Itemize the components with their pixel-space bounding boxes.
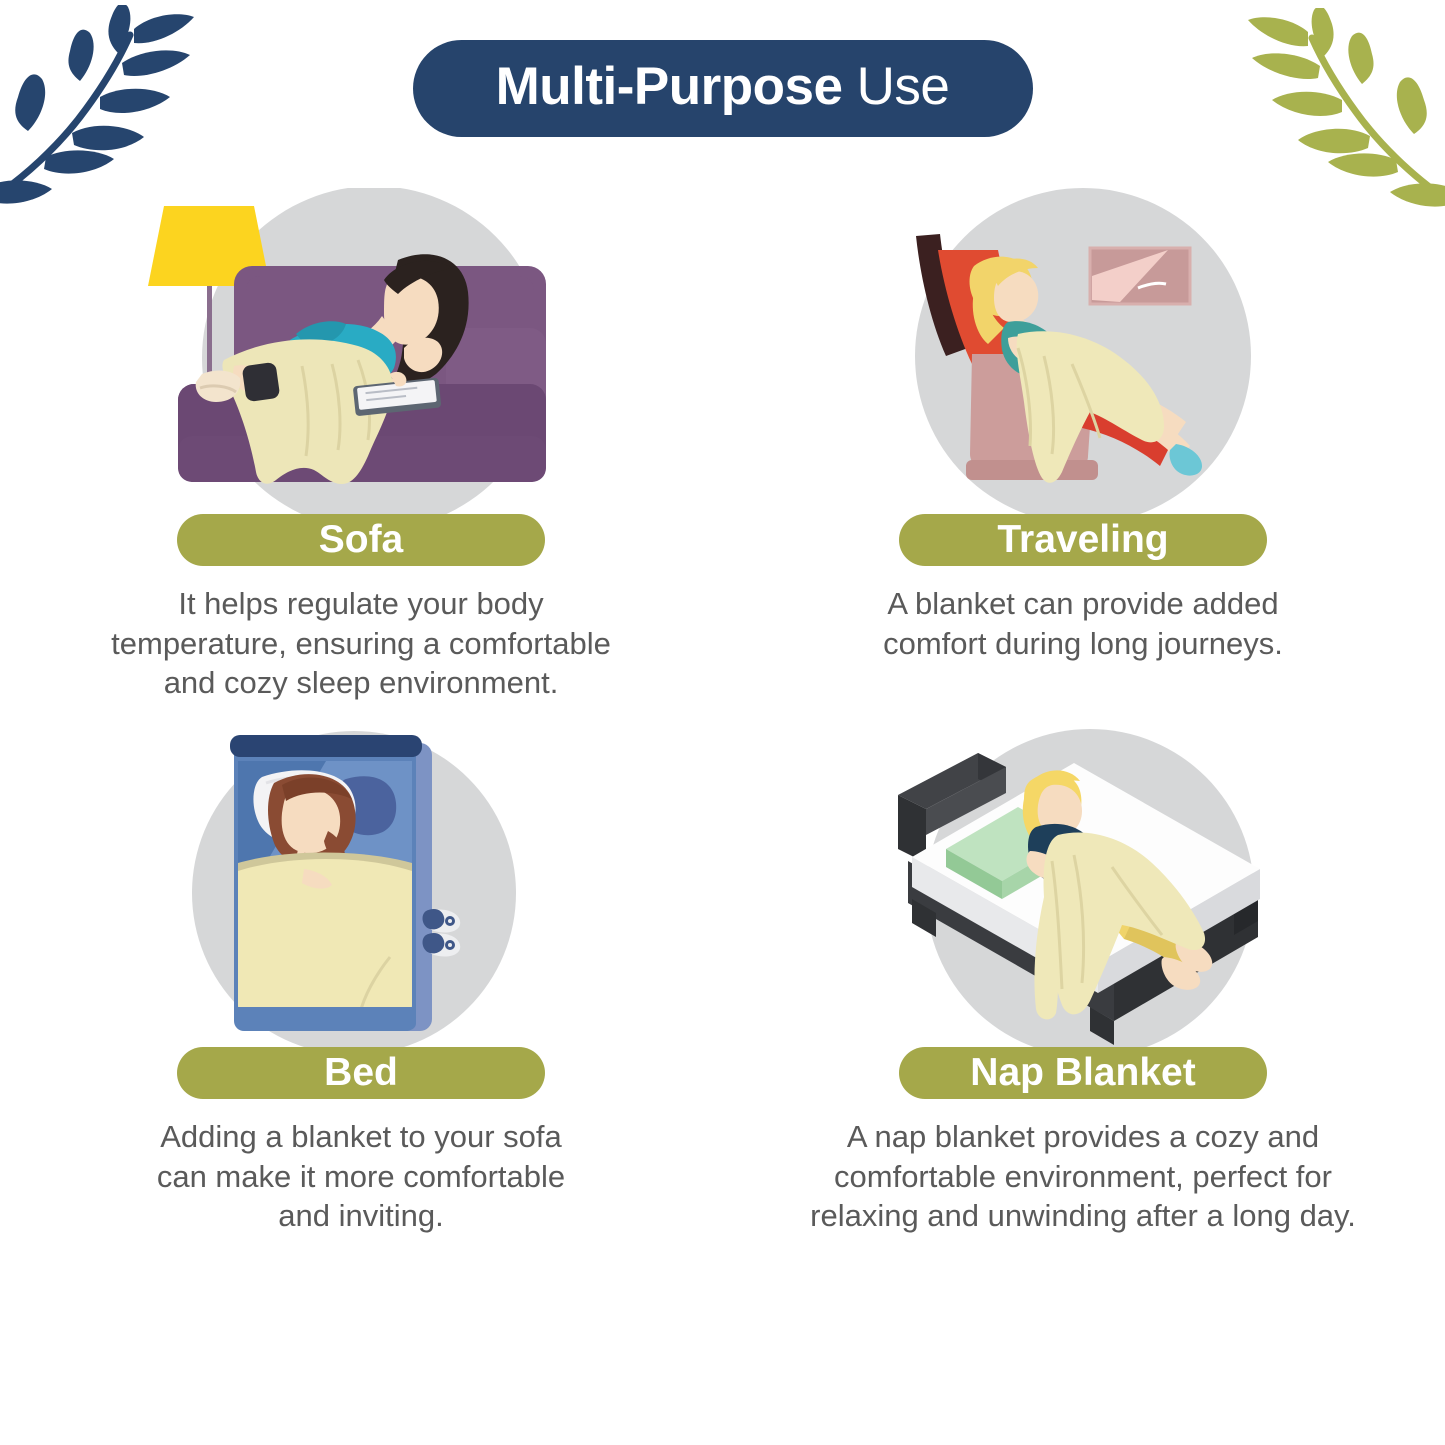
label-pill-bed: Bed: [177, 1047, 545, 1099]
page-title: Multi-Purpose Use: [0, 40, 1445, 137]
caption-sofa: It helps regulate your body temperature,…: [41, 584, 681, 703]
cards-row-2: Bed Adding a blanket to your sofa can ma…: [0, 721, 1445, 1236]
title-strong: Multi-Purpose: [496, 57, 843, 116]
title-light: Use: [842, 57, 949, 116]
caption-nap-blanket: A nap blanket provides a cozy and comfor…: [763, 1117, 1403, 1236]
illustration-sofa: [146, 188, 576, 518]
caption-traveling: A blanket can provide added comfort duri…: [783, 584, 1383, 663]
illustration-bed: [146, 721, 576, 1051]
label-pill-nap-blanket: Nap Blanket: [899, 1047, 1267, 1099]
card-traveling: Traveling A blanket can provide added co…: [722, 188, 1444, 703]
card-nap-blanket: Nap Blanket A nap blanket provides a coz…: [722, 721, 1444, 1236]
cards-row-1: Sofa It helps regulate your body tempera…: [0, 188, 1445, 703]
illustration-nap-blanket: [868, 721, 1298, 1051]
label-pill-sofa: Sofa: [177, 514, 545, 566]
card-bed: Bed Adding a blanket to your sofa can ma…: [0, 721, 722, 1236]
card-sofa: Sofa It helps regulate your body tempera…: [0, 188, 722, 703]
illustration-traveling: [868, 188, 1298, 518]
cards-grid: Sofa It helps regulate your body tempera…: [0, 188, 1445, 1236]
infographic-page: Multi-Purpose Use: [0, 0, 1445, 1445]
label-pill-traveling: Traveling: [899, 514, 1267, 566]
title-badge: Multi-Purpose Use: [413, 40, 1033, 137]
caption-bed: Adding a blanket to your sofa can make i…: [61, 1117, 661, 1236]
